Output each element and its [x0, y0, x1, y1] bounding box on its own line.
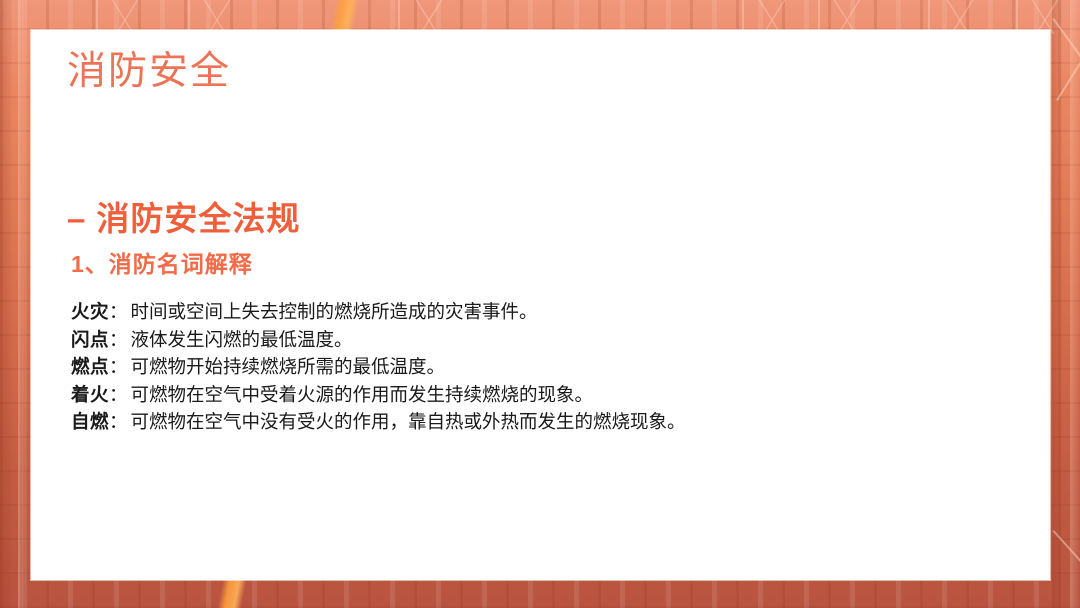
section-heading-dash: –: [67, 200, 86, 237]
section-heading: –消防安全法规: [67, 192, 300, 240]
term-colon: ：: [109, 411, 128, 432]
background-pillar: [0, 0, 12, 608]
sub-heading: 1、消防名词解释: [71, 245, 253, 279]
background-pillar-highlight: [18, 0, 24, 608]
list-item: 着火：可燃物在空气中受着火源的作用而发生持续燃烧的现象。: [71, 381, 1011, 409]
term-colon: ：: [109, 329, 128, 350]
background-truss-brace: [742, 0, 802, 34]
list-item: 自燃：可燃物在空气中没有受火的作用，靠自热或外热而发生的燃烧现象。: [71, 408, 1011, 436]
term-definition: 可燃物在空气中受着火源的作用而发生持续燃烧的现象。: [131, 384, 594, 405]
term-colon: ：: [109, 384, 128, 405]
section-heading-label: 消防安全法规: [96, 200, 300, 237]
list-item: 燃点：可燃物开始持续燃烧所需的最低温度。: [71, 353, 1011, 381]
term-name: 着火: [71, 384, 109, 405]
term-name: 闪点: [71, 329, 109, 350]
term-name: 自燃: [71, 411, 109, 432]
background-truss-brace: [818, 0, 876, 34]
list-item: 火灾：时间或空间上失去控制的燃烧所造成的灾害事件。: [71, 298, 1011, 326]
list-item: 闪点：液体发生闪燃的最低温度。: [71, 326, 1011, 354]
content-card: 消防安全 –消防安全法规 1、消防名词解释 火灾：时间或空间上失去控制的燃烧所造…: [31, 30, 1050, 580]
background-truss-brace: [188, 0, 246, 34]
presentation-slide: 消防安全 –消防安全法规 1、消防名词解释 火灾：时间或空间上失去控制的燃烧所造…: [0, 0, 1080, 608]
background-truss-brace: [96, 0, 154, 34]
background-truss-brace: [1016, 0, 1074, 34]
term-definition: 可燃物在空气中没有受火的作用，靠自热或外热而发生的燃烧现象。: [131, 411, 686, 432]
term-definition: 液体发生闪燃的最低温度。: [131, 329, 353, 350]
background-truss-brace: [928, 0, 992, 34]
term-name: 火灾: [71, 301, 109, 322]
term-definition: 可燃物开始持续燃烧所需的最低温度。: [131, 356, 446, 377]
term-colon: ：: [109, 301, 128, 322]
page-title: 消防安全: [67, 49, 231, 96]
term-name: 燃点: [71, 356, 109, 377]
background-pillar-highlight: [1070, 0, 1080, 608]
term-definition: 时间或空间上失去控制的燃烧所造成的灾害事件。: [131, 301, 538, 322]
term-definition-list: 火灾：时间或空间上失去控制的燃烧所造成的灾害事件。 闪点：液体发生闪燃的最低温度…: [71, 298, 1011, 436]
background-truss-brace: [398, 0, 460, 34]
term-colon: ：: [109, 356, 128, 377]
